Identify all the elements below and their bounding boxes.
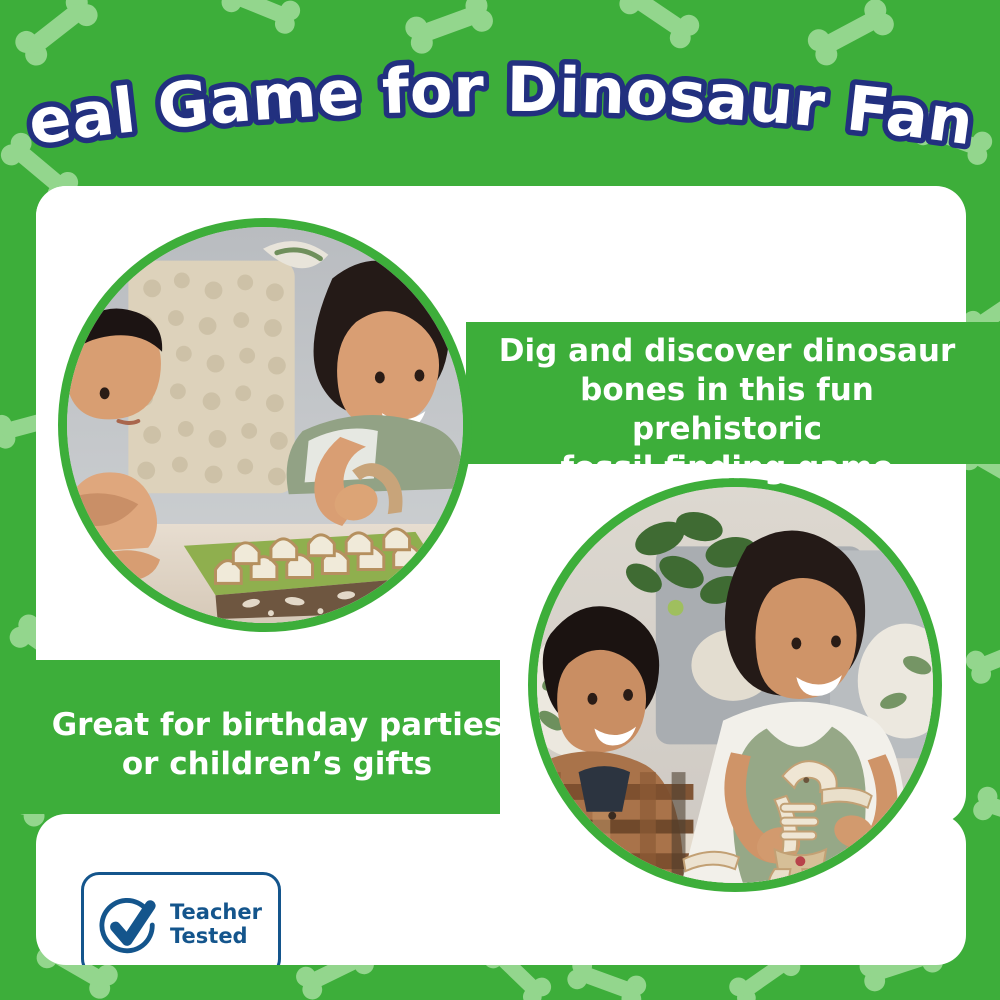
photo-2-illustration xyxy=(537,487,933,883)
caption-secondary: Great for birthday parties or children’s… xyxy=(42,706,512,784)
check-circle-icon xyxy=(98,894,160,956)
photo-children-digging-tray xyxy=(58,218,472,632)
photo-children-dinosaur-skeleton xyxy=(528,478,942,892)
teacher-tested-label: Teacher Tested xyxy=(170,901,262,949)
headline-text: Ideal Game for Dinosaur Fans! xyxy=(0,0,978,159)
headline-svg: Ideal Game for Dinosaur Fans! xyxy=(0,58,1000,168)
bone-icon xyxy=(610,0,706,59)
photo-2-image xyxy=(537,487,933,883)
photo-1-illustration xyxy=(67,227,463,623)
teacher-tested-badge: Teacher Tested xyxy=(81,872,281,965)
promo-image: Ideal Game for Dinosaur Fans! Dig and di… xyxy=(0,0,1000,1000)
bone-icon xyxy=(214,0,306,43)
caption-primary: Dig and discover dinosaur bones in this … xyxy=(492,332,962,488)
bone-icon xyxy=(966,782,1000,846)
photo-1-image xyxy=(67,227,463,623)
headline: Ideal Game for Dinosaur Fans! xyxy=(0,58,1000,168)
bone-icon xyxy=(960,624,1000,693)
